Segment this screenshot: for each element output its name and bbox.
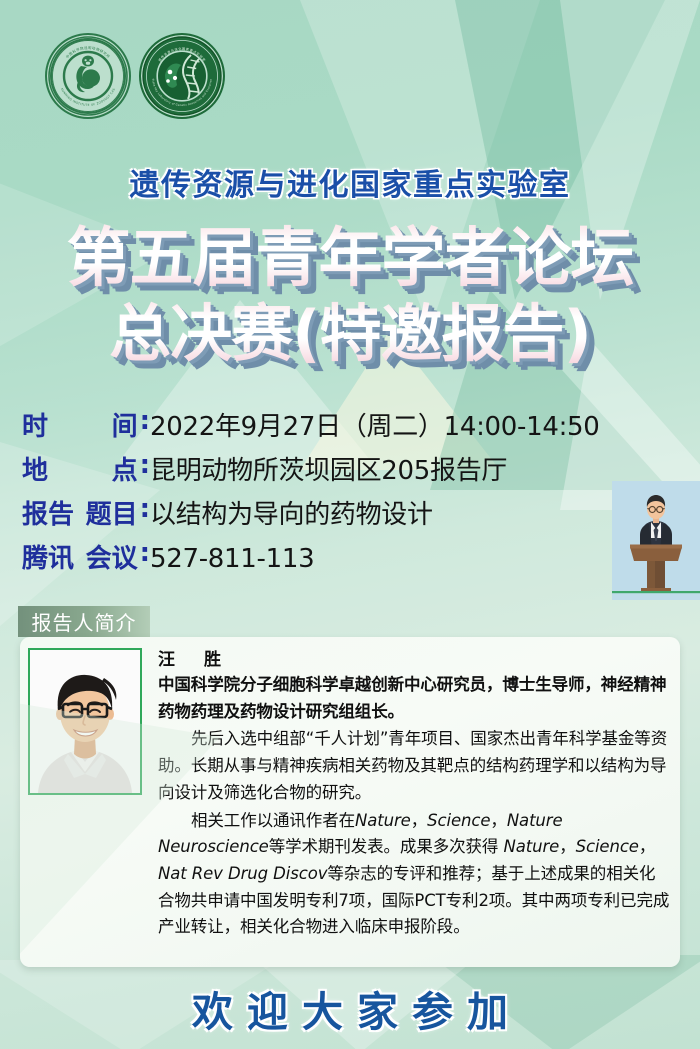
laboratory-name: 遗传资源与进化国家重点实验室 (0, 160, 700, 204)
info-label-meeting-id: 腾讯会议: (22, 538, 150, 575)
bio-text-run: ， (490, 811, 506, 830)
speaker-bio-card: 汪 胜 中国科学院分子细胞科学卓越创新中心研究员，博士生导师，神经精神药物药理及… (20, 637, 680, 967)
info-row-topic: 报告题目: 以结构为导向的药物设计 (22, 494, 600, 531)
journal-name: Nat Rev Drug Discov (158, 864, 327, 883)
speaker-bio-paragraph-2: 相关工作以通讯作者在Nature，Science，Nature Neurosci… (158, 808, 670, 942)
journal-name: Nature (355, 811, 411, 830)
speaker-bio-paragraph-1: 先后入选中组部“千人计划”青年项目、国家杰出青年科学基金等资助。长期从事与精神疾… (158, 726, 670, 806)
event-info-block: 时间: 2022年9月27日（周二）14:00-14:50 地点: 昆明动物所茨… (22, 406, 600, 582)
bio-text-run: ， (639, 837, 655, 856)
journal-name: Science (427, 811, 490, 830)
speaker-section-banner: 报告人简介 (18, 606, 150, 637)
poster-root: 中国科学院昆明动物研究所 KUNMING INSTITUTE OF ZOOLOG… (0, 0, 700, 1049)
info-row-time: 时间: 2022年9月27日（周二）14:00-14:50 (22, 406, 600, 443)
welcome-footer: 欢迎大家参加 (0, 978, 700, 1038)
info-value-topic: 以结构为导向的药物设计 (150, 494, 433, 531)
bio-text-run: 等学术期刊发表。成果多次获得 (269, 837, 504, 856)
podium-speaker-illustration (612, 481, 700, 600)
bio-text-run: 相关工作以通讯作者在 (191, 811, 355, 830)
info-label-time: 时间: (22, 406, 150, 443)
state-key-laboratory-logo: 遗传资源与进化国家重点实验室 State Key Laboratory of G… (139, 33, 225, 119)
logo-row: 中国科学院昆明动物研究所 KUNMING INSTITUTE OF ZOOLOG… (45, 33, 225, 119)
bio-text-run: ， (559, 837, 575, 856)
speaker-name: 汪 胜 (158, 645, 670, 670)
speaker-portrait-photo (28, 648, 142, 795)
info-value-meeting-id: 527-811-113 (150, 544, 314, 574)
speaker-bio-text: 汪 胜 中国科学院分子细胞科学卓越创新中心研究员，博士生导师，神经精神药物药理及… (158, 645, 670, 941)
info-label-location: 地点: (22, 450, 150, 487)
kunming-institute-of-zoology-logo: 中国科学院昆明动物研究所 KUNMING INSTITUTE OF ZOOLOG… (45, 33, 131, 119)
bio-text-run: ， (411, 811, 427, 830)
journal-name: Nature (503, 837, 559, 856)
speaker-role: 中国科学院分子细胞科学卓越创新中心研究员，博士生导师，神经精神药物药理及药物设计… (158, 672, 670, 725)
info-row-location: 地点: 昆明动物所茨坝园区205报告厅 (22, 450, 600, 487)
main-title-line-2: 总决赛(特邀报告) (0, 283, 700, 373)
info-label-topic: 报告题目: (22, 494, 150, 531)
info-row-meeting-id: 腾讯会议: 527-811-113 (22, 538, 600, 575)
info-value-time: 2022年9月27日（周二）14:00-14:50 (150, 406, 600, 443)
info-value-location: 昆明动物所茨坝园区205报告厅 (150, 450, 507, 487)
journal-name: Science (576, 837, 639, 856)
